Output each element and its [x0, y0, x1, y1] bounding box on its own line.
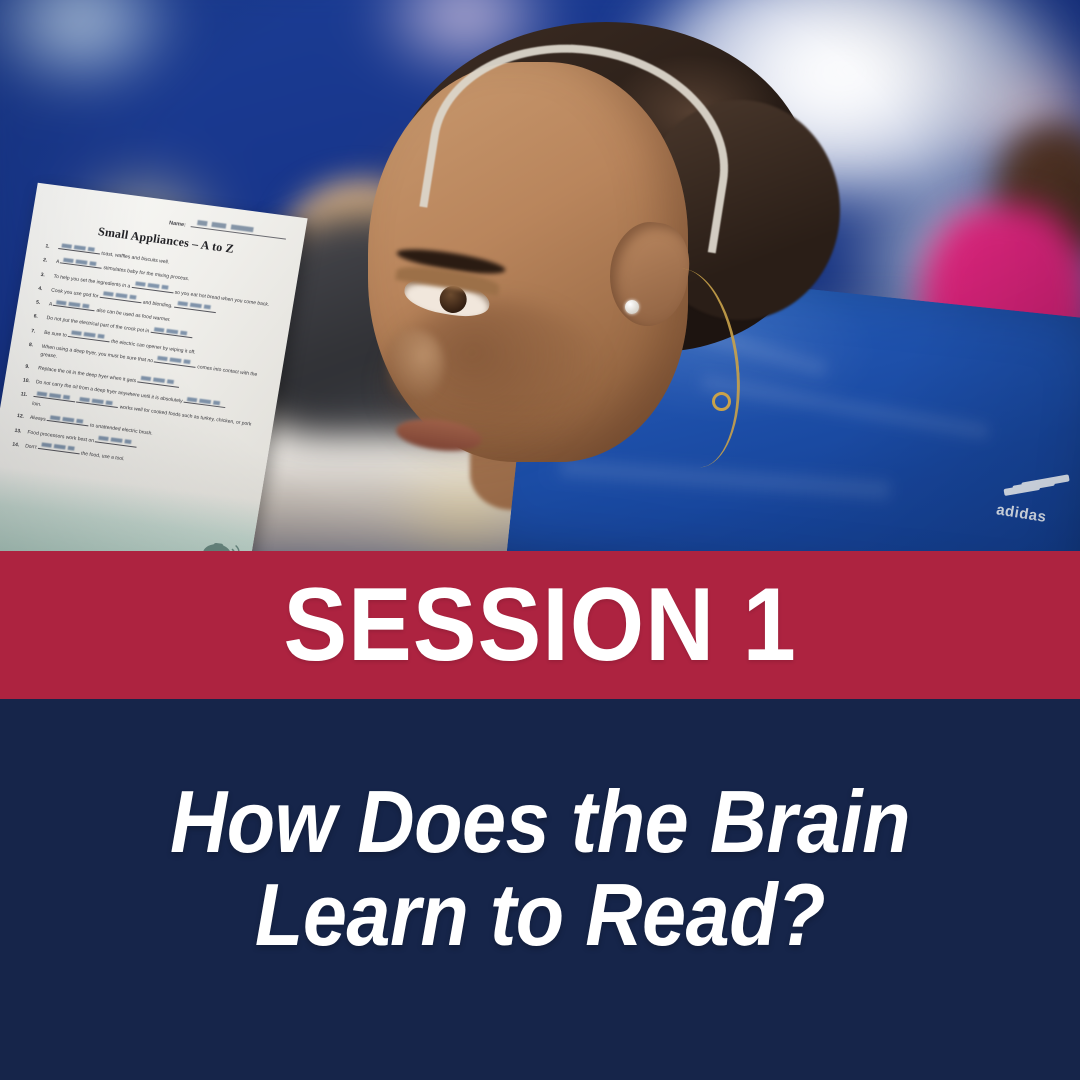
title-panel: How Does the Brain Learn to Read? [0, 699, 1080, 1080]
worksheet-green-tint [0, 465, 260, 551]
worksheet-items: 1. toast, waffles and biscuits well. 2. … [11, 240, 280, 479]
session-label: SESSION 1 [283, 573, 796, 677]
page-title: How Does the Brain Learn to Read? [144, 775, 936, 962]
classroom-photo: adidas Name: [0, 0, 1080, 551]
session-banner: SESSION 1 [0, 551, 1080, 699]
worksheet-name-value [191, 219, 288, 239]
adidas-wordmark: adidas [995, 501, 1048, 526]
session-title-card: adidas Name: [0, 0, 1080, 1080]
title-line-1: How Does the Brain [144, 775, 936, 868]
title-line-2: Learn to Read? [144, 868, 936, 961]
worksheet-name-label: Name: [169, 220, 187, 228]
necklace-charm [712, 392, 731, 411]
cooking-pot-icon [192, 536, 241, 551]
